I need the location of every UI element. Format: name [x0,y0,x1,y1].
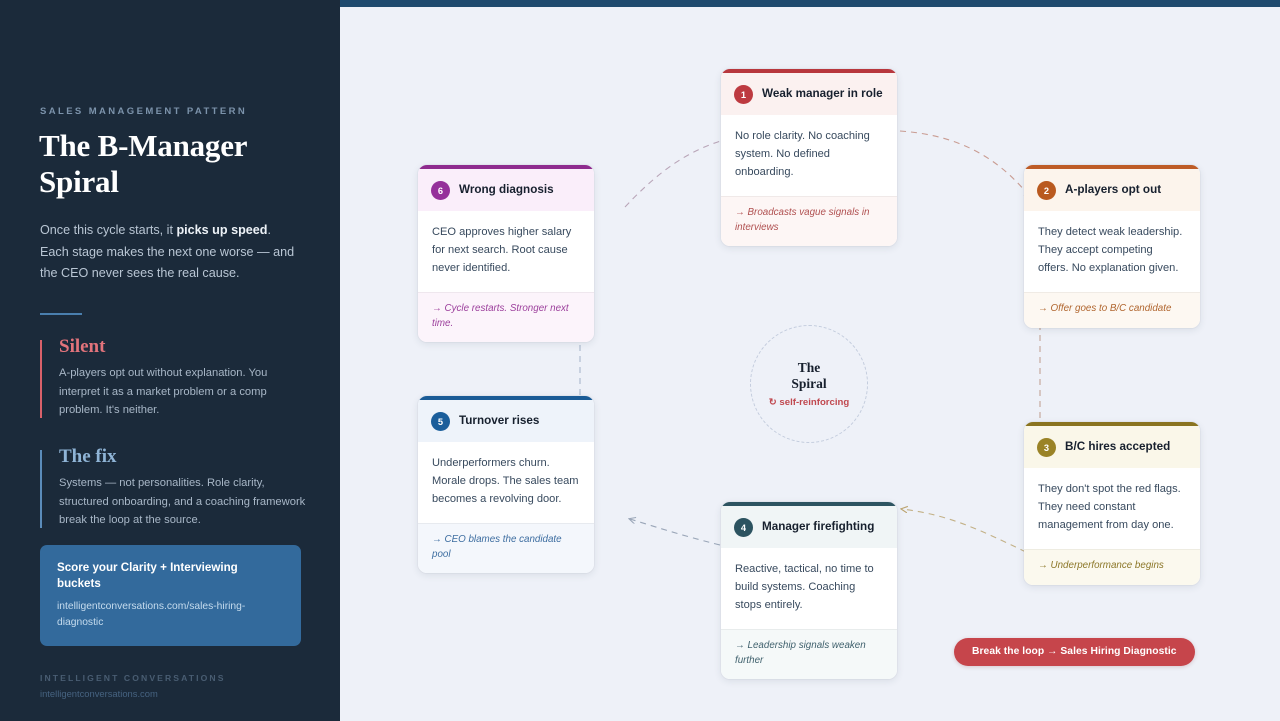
block-accent-bar [40,450,42,528]
break-the-loop-button[interactable]: Break the loop → Sales Hiring Diagnostic [954,638,1195,666]
sidebar: SALES MANAGEMENT PATTERN The B-Manager S… [0,0,340,721]
sidebar-lede: Once this cycle starts, it picks up spee… [40,220,302,285]
card-body: They don't spot the red flags. They need… [1024,468,1200,549]
card-footnote: → Broadcasts vague signals in interviews [721,196,897,246]
card-body: Underperformers churn. Morale drops. The… [418,442,594,523]
card-header: 4 Manager firefighting [721,506,897,548]
stage-card-3[interactable]: 3 B/C hires accepted They don't spot the… [1024,422,1200,585]
card-number-badge: 2 [1037,181,1056,200]
card-title: Turnover rises [459,414,539,429]
card-body: They detect weak leadership. They accept… [1024,211,1200,292]
hub-title-line1: The [798,360,821,376]
card-header: 2 A-players opt out [1024,169,1200,211]
sidebar-cta-card[interactable]: Score your Clarity + Interviewing bucket… [40,545,301,646]
hub-title-line2: Spiral [791,376,826,392]
card-header: 1 Weak manager in role [721,73,897,115]
lede-emphasis: picks up speed [176,223,267,237]
footer-site[interactable]: intelligentconversations.com [40,688,226,699]
sidebar-divider [40,313,82,315]
card-footnote: → Underperformance begins [1024,549,1200,585]
card-number-badge: 4 [734,518,753,537]
stage-card-6[interactable]: 6 Wrong diagnosis CEO approves higher sa… [418,165,594,342]
card-title: Manager firefighting [762,520,874,535]
block-accent-bar [40,340,42,418]
card-title: B/C hires accepted [1065,440,1170,455]
diagram-canvas: 1 Weak manager in role No role clarity. … [340,0,1280,721]
hub-caption: ↻ self-reinforcing [769,397,850,408]
sidebar-block-the-fix: The fix Systems — not personalities. Rol… [40,446,306,530]
cta-url[interactable]: intelligentconversations.com/sales-hirin… [57,599,284,629]
card-body: Reactive, tactical, no time to build sys… [721,548,897,629]
block-heading: Silent [59,336,306,358]
card-title: A-players opt out [1065,183,1161,198]
block-heading: The fix [59,446,306,468]
cta-title: Score your Clarity + Interviewing bucket… [57,560,284,591]
stage-card-1[interactable]: 1 Weak manager in role No role clarity. … [721,69,897,246]
app-root: SALES MANAGEMENT PATTERN The B-Manager S… [0,0,1280,721]
stage-card-5[interactable]: 5 Turnover rises Underperformers churn. … [418,396,594,573]
sidebar-footer: INTELLIGENT CONVERSATIONS intelligentcon… [40,673,226,699]
connector-1-to-2 [900,131,1030,197]
card-header: 3 B/C hires accepted [1024,426,1200,468]
card-header: 5 Turnover rises [418,400,594,442]
card-footnote: → CEO blames the candidate pool [418,523,594,573]
card-body: No role clarity. No coaching system. No … [721,115,897,196]
sidebar-block-silent: Silent A-players opt out without explana… [40,336,306,420]
card-footnote: → Offer goes to B/C candidate [1024,292,1200,328]
block-body: Systems — not personalities. Role clarit… [59,474,306,530]
diagram-area: 1 Weak manager in role No role clarity. … [340,7,1280,721]
center-hub: The Spiral ↻ self-reinforcing [750,325,868,443]
stage-card-4[interactable]: 4 Manager firefighting Reactive, tactica… [721,502,897,679]
connector-4-to-5 [630,519,720,545]
page-title: The B-Manager Spiral [39,128,309,200]
card-number-badge: 5 [431,412,450,431]
card-header: 6 Wrong diagnosis [418,169,594,211]
card-title: Weak manager in role [762,87,883,102]
card-number-badge: 1 [734,85,753,104]
stage-card-2[interactable]: 2 A-players opt out They detect weak lea… [1024,165,1200,328]
card-body: CEO approves higher salary for next sear… [418,211,594,292]
card-footnote: → Cycle restarts. Stronger next time. [418,292,594,342]
lede-part-a: Once this cycle starts, it [40,223,176,237]
connector-3-to-4 [902,509,1026,552]
card-number-badge: 6 [431,181,450,200]
sidebar-kicker: SALES MANAGEMENT PATTERN [40,106,247,117]
card-footnote: → Leadership signals weaken further [721,629,897,679]
footer-brand: INTELLIGENT CONVERSATIONS [40,673,226,683]
card-title: Wrong diagnosis [459,183,554,198]
card-number-badge: 3 [1037,438,1056,457]
block-body: A-players opt out without explanation. Y… [59,364,306,420]
